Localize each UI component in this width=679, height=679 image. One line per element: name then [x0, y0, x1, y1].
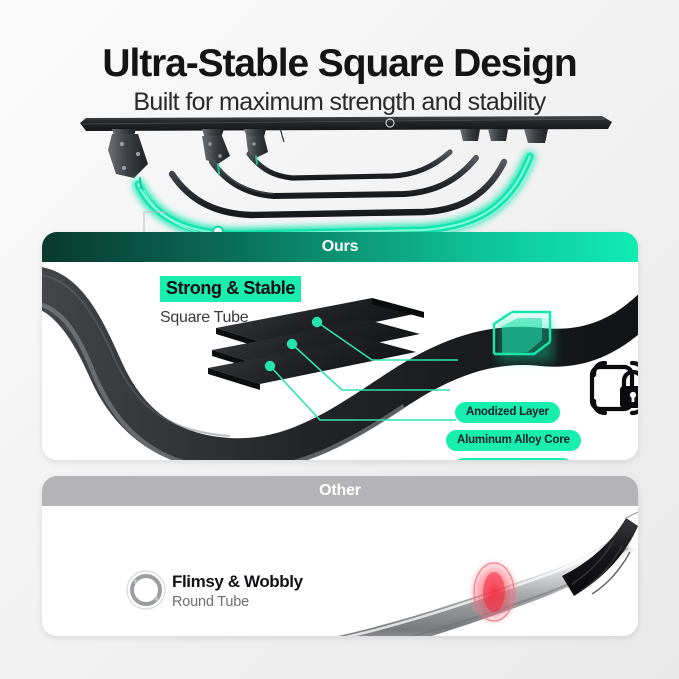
infographic-canvas: Ultra-Stable Square Design Built for max…: [0, 0, 679, 679]
callout-protective-coating: Protective Coating: [453, 458, 573, 460]
callout-anodized-layer: Anodized Layer: [455, 402, 560, 423]
comparison-panel-ours: Ours: [42, 232, 638, 460]
ours-badge-label: Strong & Stable: [160, 276, 301, 302]
other-badge-label: Flimsy & Wobbly: [172, 572, 303, 592]
panel-body-other: Flimsy & Wobbly Round Tube: [42, 506, 638, 636]
panel-header-other: Other: [42, 476, 638, 506]
page-title: Ultra-Stable Square Design: [0, 44, 679, 85]
callout-aluminum-alloy-core: Aluminum Alloy Core: [446, 430, 581, 451]
comparison-panel-other: Other: [42, 476, 638, 636]
other-text-block: Flimsy & Wobbly Round Tube: [172, 572, 303, 610]
other-subtitle: Round Tube: [172, 594, 303, 610]
ours-text-block: Strong & Stable Square Tube: [160, 276, 301, 327]
hero-product-image: [52, 112, 632, 236]
ours-subtitle: Square Tube: [160, 309, 301, 327]
lock-secure-icon: [580, 355, 638, 421]
panel-header-ours: Ours: [42, 232, 638, 262]
panel-body-ours: Strong & Stable Square Tube Anodized Lay…: [42, 262, 638, 460]
wobble-ring-icon: [124, 568, 168, 612]
